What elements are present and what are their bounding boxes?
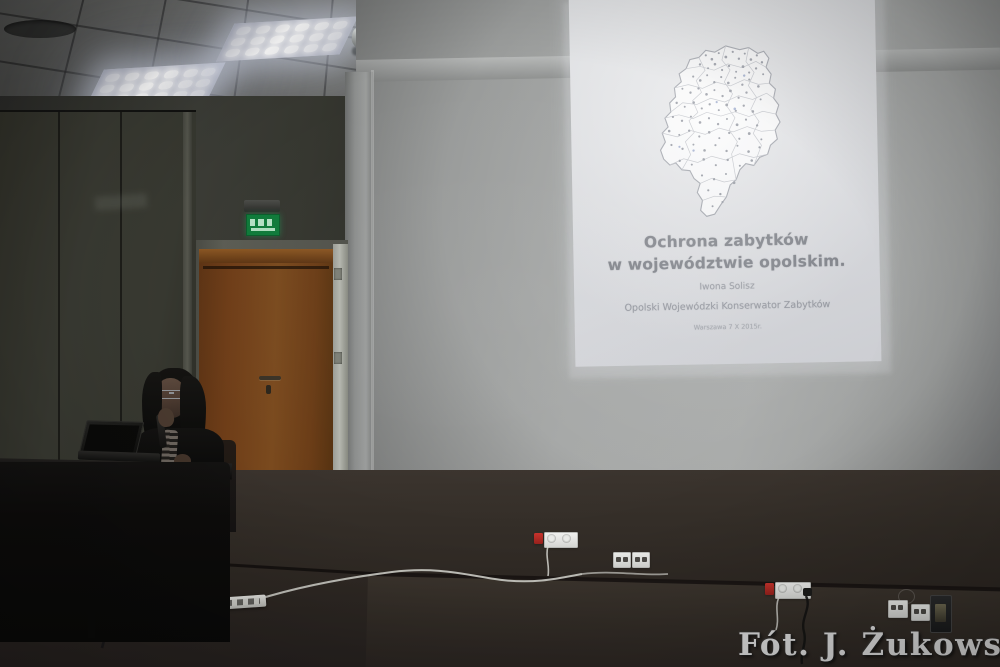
projected-slide: Ochrona zabytków w województwie opolskim… xyxy=(569,0,882,367)
door-hinge-icon xyxy=(334,352,342,364)
emergency-exit-sign-icon xyxy=(246,214,280,236)
power-socket-icon[interactable] xyxy=(562,534,571,543)
exit-sign-housing xyxy=(244,200,280,212)
slide-title-line-2: w województwie opolskim. xyxy=(573,249,879,277)
map-of-opolskie-voivodeship-icon xyxy=(648,41,801,224)
slide-title: Ochrona zabytków w województwie opolskim… xyxy=(573,227,880,277)
data-jack-pair-left[interactable] xyxy=(613,552,631,568)
door-top-rail xyxy=(199,249,333,263)
table-leg xyxy=(88,600,95,638)
data-jack-right-b[interactable] xyxy=(911,604,930,621)
light-switch-red-right[interactable] xyxy=(765,583,774,595)
photograph-conference-room: Ochrona zabytków w województwie opolskim… xyxy=(0,0,1000,667)
door-handle-icon[interactable] xyxy=(259,376,281,380)
slide-author: Iwona Solisz xyxy=(574,279,880,295)
partition-seam xyxy=(58,112,60,480)
power-socket-icon[interactable] xyxy=(793,584,802,593)
plugged-connector-icon xyxy=(803,588,812,596)
slide-role: Opolski Wojewódzki Konserwator Zabytków xyxy=(574,298,880,315)
slide-date: Warszawa 7 X 2015r. xyxy=(575,320,881,334)
presenter-table xyxy=(0,462,230,642)
data-jack-right-a[interactable] xyxy=(888,600,908,618)
light-switch-red-left[interactable] xyxy=(534,533,543,544)
door-hinge-icon xyxy=(334,268,342,280)
door-groove xyxy=(203,266,329,269)
photographer-watermark: Fót. J. Żukowski xyxy=(738,627,1000,663)
power-socket-icon[interactable] xyxy=(778,584,787,593)
power-socket-icon[interactable] xyxy=(547,534,556,543)
data-jack-pair-left-b[interactable] xyxy=(632,552,650,568)
door-lock-icon[interactable] xyxy=(266,385,271,394)
